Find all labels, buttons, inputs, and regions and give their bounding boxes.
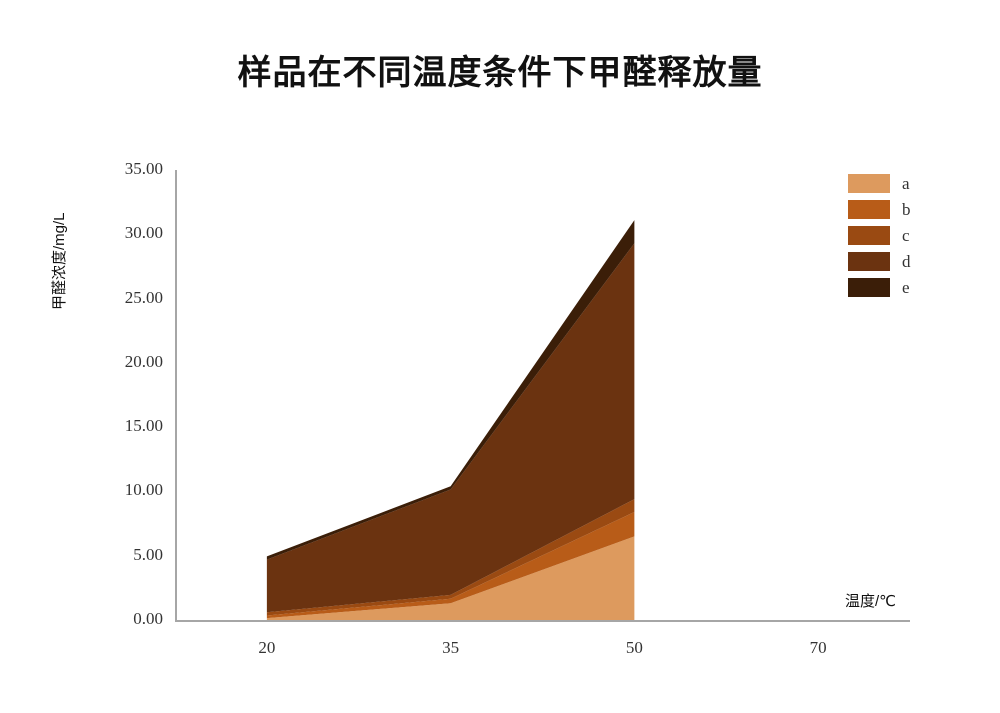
x-axis-line: [175, 620, 910, 622]
x-tick-label: 35: [411, 638, 491, 658]
legend-label-b: b: [902, 201, 911, 218]
stacked-area-series: [175, 170, 910, 620]
legend-item-e[interactable]: e: [848, 274, 958, 300]
legend-label-e: e: [902, 279, 910, 296]
y-tick-label: 0.00: [95, 609, 163, 629]
legend-label-a: a: [902, 175, 910, 192]
y-tick-label: 15.00: [95, 416, 163, 436]
y-tick-label: 5.00: [95, 545, 163, 565]
legend-swatch-d: [848, 252, 890, 271]
chart-container: 样品在不同温度条件下甲醛释放量 甲醛浓度/mg/L 温度/℃ 0.005.001…: [0, 0, 1000, 713]
legend-label-d: d: [902, 253, 911, 270]
x-tick-label: 50: [594, 638, 674, 658]
legend-swatch-c: [848, 226, 890, 245]
y-tick-label: 35.00: [95, 159, 163, 179]
y-tick-label: 25.00: [95, 288, 163, 308]
legend-item-b[interactable]: b: [848, 196, 958, 222]
plot-area: [175, 170, 910, 620]
x-tick-label: 20: [227, 638, 307, 658]
legend-swatch-a: [848, 174, 890, 193]
legend-label-c: c: [902, 227, 910, 244]
legend-swatch-b: [848, 200, 890, 219]
y-axis-title: 甲醛浓度/mg/L: [48, 130, 69, 310]
chart-title: 样品在不同温度条件下甲醛释放量: [0, 45, 1000, 94]
legend-item-a[interactable]: a: [848, 170, 958, 196]
y-tick-label: 10.00: [95, 480, 163, 500]
legend: a b c d e: [848, 170, 958, 300]
legend-item-c[interactable]: c: [848, 222, 958, 248]
legend-swatch-e: [848, 278, 890, 297]
y-tick-label: 30.00: [95, 223, 163, 243]
x-tick-label: 70: [778, 638, 858, 658]
legend-item-d[interactable]: d: [848, 248, 958, 274]
y-tick-label: 20.00: [95, 352, 163, 372]
